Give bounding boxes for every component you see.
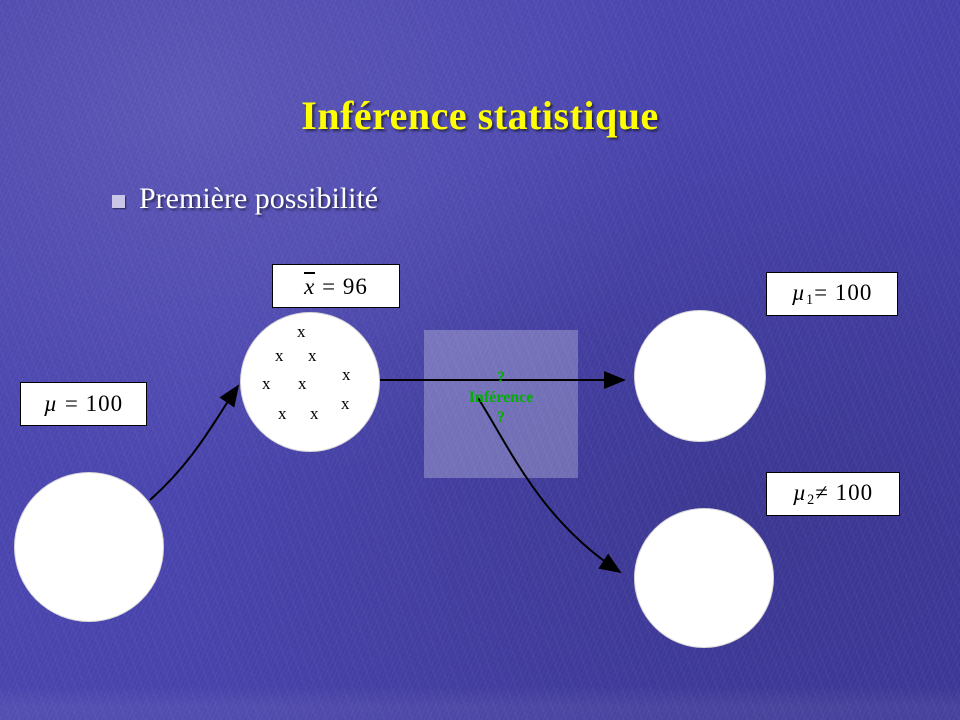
hypothesis2-formula: µ2≠ 100 (766, 472, 900, 516)
sample-x-mark: x (262, 374, 271, 394)
sample-x-mark: x (298, 374, 307, 394)
sample-x-mark: x (308, 346, 317, 366)
sample-x-mark: x (275, 346, 284, 366)
bullet-row: Première possibilité (112, 182, 378, 216)
population-mean-operator: = (65, 391, 79, 416)
sample-x-mark: x (341, 394, 350, 414)
hypothesis1-subscript: 1 (806, 291, 814, 307)
sample-x-mark: x (342, 365, 351, 385)
slide: Inférence statistique Première possibili… (0, 0, 960, 720)
sample-mean-formula: x = 96 (272, 264, 400, 308)
sample-mean-operator: = (322, 274, 336, 299)
square-bullet-icon (112, 195, 125, 208)
hypothesis2-circle (634, 508, 774, 648)
sample-x-mark: x (297, 322, 306, 342)
sample-x-mark: x (310, 404, 319, 424)
hypothesis1-operator: = (814, 280, 828, 305)
inference-text: Inférence (424, 388, 578, 408)
arrow-population-to-sample (150, 386, 238, 500)
hypothesis2-operator: ≠ (815, 480, 829, 505)
sample-mean-value: 96 (343, 274, 368, 299)
sample-x-mark: x (278, 404, 287, 424)
page-title: Inférence statistique (0, 92, 960, 139)
bullet-text: Première possibilité (139, 182, 378, 216)
sample-x-cloud: x x x x x x x x x (240, 312, 378, 450)
hypothesis1-formula: µ1= 100 (766, 272, 898, 316)
sample-mean-symbol: x (304, 272, 315, 298)
hypothesis2-value: 100 (836, 480, 874, 505)
population-mean-value: 100 (86, 391, 124, 416)
hypothesis1-symbol: µ (792, 280, 806, 305)
hypothesis1-value: 100 (835, 280, 873, 305)
population-mean-symbol: µ (44, 391, 58, 416)
inference-question-bottom: ? (424, 408, 578, 428)
population-mean-formula: µ = 100 (20, 382, 147, 426)
hypothesis1-circle (634, 310, 766, 442)
inference-label: ? Inférence ? (424, 368, 578, 428)
hypothesis2-symbol: µ (793, 480, 807, 505)
inference-question-top: ? (424, 368, 578, 388)
population-circle (14, 472, 164, 622)
